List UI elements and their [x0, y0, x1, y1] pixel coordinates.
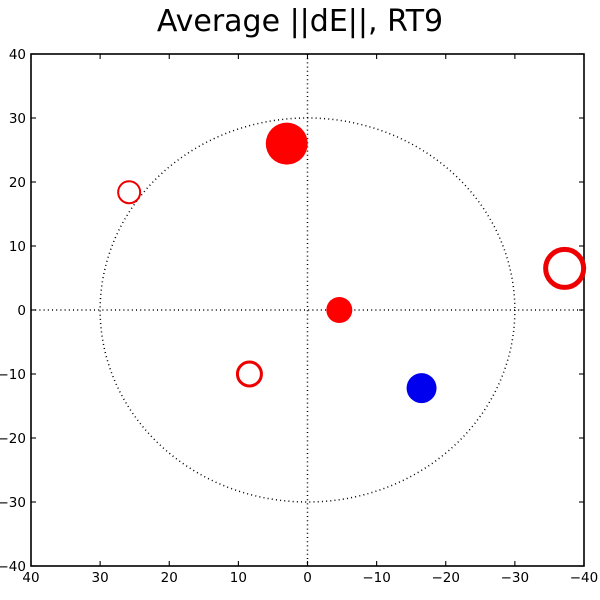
annotations-layer — [31, 54, 584, 566]
x-tick-label: −30 — [501, 570, 530, 586]
x-tick-label: −10 — [362, 570, 391, 586]
y-tick-label: −40 — [0, 559, 26, 575]
axes-frame — [31, 54, 584, 566]
y-tick-label: 20 — [9, 175, 26, 191]
x-tick-label: 0 — [303, 570, 312, 586]
y-tick-label: −20 — [0, 431, 26, 447]
x-tick-label: −20 — [432, 570, 461, 586]
y-tick-label: 10 — [9, 239, 26, 255]
data-point-red-open-large[interactable] — [546, 249, 584, 287]
reference-ellipse — [100, 118, 515, 502]
data-point-red-filled-large[interactable] — [266, 123, 308, 165]
data-point-red-filled-medium[interactable] — [326, 297, 352, 323]
axes-layer — [31, 54, 584, 566]
x-tick-label: 30 — [92, 570, 109, 586]
data-point-red-open-small[interactable] — [118, 181, 140, 203]
x-tick-label: 20 — [161, 570, 178, 586]
scatter-plot: 403020100−10−20−30−40−40−30−20−100102030… — [0, 0, 600, 600]
y-tick-label: −30 — [0, 495, 26, 511]
y-tick-label: 40 — [9, 47, 26, 63]
x-tick-label: 10 — [230, 570, 247, 586]
data-point-red-open-medium[interactable] — [237, 362, 261, 386]
y-tick-label: −10 — [0, 367, 26, 383]
y-tick-label: 30 — [9, 111, 26, 127]
data-points-layer — [118, 123, 583, 403]
figure-canvas: Average ||dE||, RT9 403020100−10−20−30−4… — [0, 0, 600, 600]
y-tick-label: 0 — [17, 303, 26, 319]
data-point-blue-filled[interactable] — [407, 373, 437, 403]
x-tick-label: −40 — [570, 570, 599, 586]
